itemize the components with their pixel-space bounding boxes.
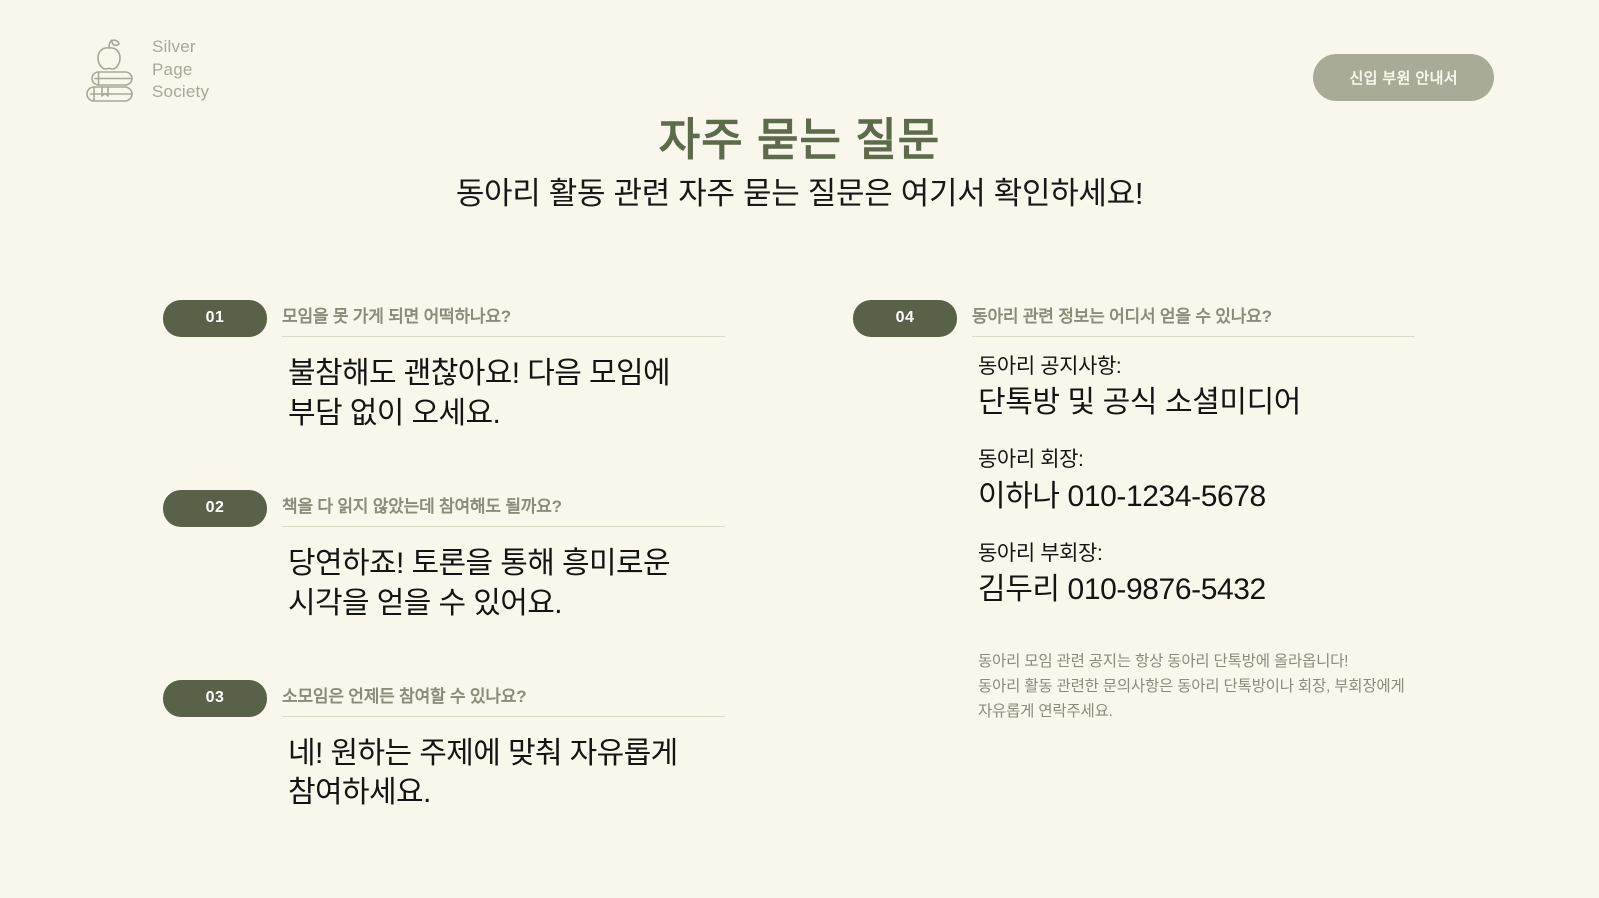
- faq-question-row: 소모임은 언제든 참여할 수 있나요?: [282, 682, 725, 717]
- faq-number-badge: 01: [163, 300, 267, 337]
- faq-columns: 01 모임을 못 가게 되면 어떡하나요? 불참해도 괜찮아요! 다음 모임에 …: [0, 300, 1599, 813]
- faq-item[interactable]: 02 책을 다 읽지 않았는데 참여해도 될까요? 당연하죠! 토론을 통해 흥…: [163, 490, 725, 624]
- faq-answer: 불참해도 괜찮아요! 다음 모임에 부담 없이 오세요.: [288, 354, 725, 434]
- faq-question-row: 책을 다 읽지 않았는데 참여해도 될까요?: [282, 492, 725, 527]
- faq-header: 04 동아리 관련 정보는 어디서 얻을 수 있나요?: [853, 300, 1415, 337]
- faq-question: 동아리 관련 정보는 어디서 얻을 수 있나요?: [972, 307, 1272, 326]
- faq-number-badge: 03: [163, 680, 267, 717]
- info-value: 단톡방 및 공식 소셜미디어: [978, 383, 1415, 422]
- contact-info-list: 동아리 공지사항: 단톡방 및 공식 소셜미디어 동아리 회장: 이하나 010…: [978, 353, 1415, 609]
- info-block: 동아리 공지사항: 단톡방 및 공식 소셜미디어: [978, 353, 1415, 422]
- faq-number-badge: 02: [163, 490, 267, 527]
- info-block: 동아리 회장: 이하나 010-1234-5678: [978, 446, 1415, 515]
- faq-column-right: 04 동아리 관련 정보는 어디서 얻을 수 있나요? 동아리 공지사항: 단톡…: [853, 300, 1415, 813]
- faq-answer: 당연하죠! 토론을 통해 흥미로운 시각을 얻을 수 있어요.: [288, 544, 725, 624]
- faq-header: 02 책을 다 읽지 않았는데 참여해도 될까요?: [163, 490, 725, 527]
- faq-item[interactable]: 01 모임을 못 가게 되면 어떡하나요? 불참해도 괜찮아요! 다음 모임에 …: [163, 300, 725, 434]
- info-label: 동아리 부회장:: [978, 540, 1415, 568]
- info-label: 동아리 회장:: [978, 446, 1415, 474]
- brand-name: Silver Page Society: [152, 36, 209, 104]
- faq-question-row: 모임을 못 가게 되면 어떡하나요?: [282, 302, 725, 337]
- faq-header: 03 소모임은 언제든 참여할 수 있나요?: [163, 680, 725, 717]
- page-subtitle: 동아리 활동 관련 자주 묻는 질문은 여기서 확인하세요!: [0, 168, 1599, 213]
- page-title: 자주 묻는 질문: [0, 103, 1599, 168]
- new-member-guide-badge[interactable]: 신입 부원 안내서: [1313, 54, 1494, 101]
- faq-question-row: 동아리 관련 정보는 어디서 얻을 수 있나요?: [972, 302, 1415, 337]
- faq-answer: 네! 원하는 주제에 맞춰 자유롭게 참여하세요.: [288, 734, 725, 814]
- faq-item[interactable]: 04 동아리 관련 정보는 어디서 얻을 수 있나요? 동아리 공지사항: 단톡…: [853, 300, 1415, 724]
- brand-logo[interactable]: Silver Page Society: [78, 36, 209, 104]
- faq-header: 01 모임을 못 가게 되면 어떡하나요?: [163, 300, 725, 337]
- faq-question: 모임을 못 가게 되면 어떡하나요?: [282, 307, 511, 326]
- info-label: 동아리 공지사항:: [978, 353, 1415, 381]
- info-value: 김두리 010-9876-5432: [978, 570, 1415, 609]
- faq-item[interactable]: 03 소모임은 언제든 참여할 수 있나요? 네! 원하는 주제에 맞춰 자유롭…: [163, 680, 725, 814]
- info-value: 이하나 010-1234-5678: [978, 477, 1415, 516]
- info-block: 동아리 부회장: 김두리 010-9876-5432: [978, 540, 1415, 609]
- faq-question: 책을 다 읽지 않았는데 참여해도 될까요?: [282, 497, 562, 516]
- faq-question: 소모임은 언제든 참여할 수 있나요?: [282, 687, 526, 706]
- apple-on-books-icon: [78, 36, 140, 104]
- faq-number-badge: 04: [853, 300, 957, 337]
- contact-footnote: 동아리 모임 관련 공지는 항상 동아리 단톡방에 올라옵니다! 동아리 활동 …: [978, 649, 1410, 724]
- faq-column-left: 01 모임을 못 가게 되면 어떡하나요? 불참해도 괜찮아요! 다음 모임에 …: [163, 300, 725, 813]
